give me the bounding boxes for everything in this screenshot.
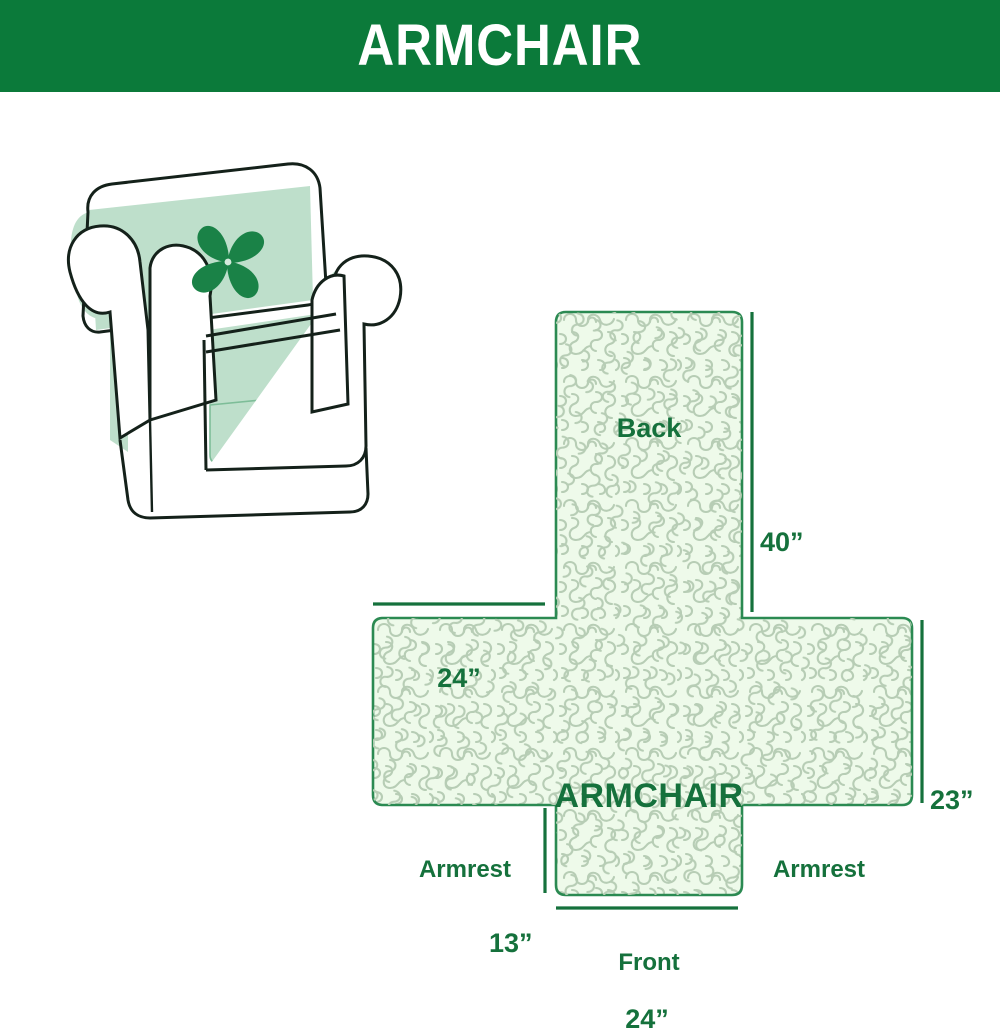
dimension-label-front-height: 13” — [489, 930, 533, 957]
armchair-illustration — [68, 164, 400, 518]
chair-base-left-fold — [150, 420, 152, 512]
panel-label-armrest-right: Armrest — [726, 858, 912, 882]
dimension-label-armrest-width: 24” — [373, 665, 545, 692]
dimension-label-center-height: 23” — [930, 787, 974, 814]
header-banner: ARMCHAIR — [0, 0, 1000, 92]
page-title: ARMCHAIR — [358, 17, 643, 75]
panel-label-armrest-left: Armrest — [372, 858, 558, 882]
dimension-label-back-height: 40” — [760, 529, 804, 556]
chair-right-arm-inner — [312, 275, 348, 412]
panel-label-center: ARMCHAIR — [449, 779, 849, 813]
product-dimension-diagram: ARMCHAIR — [0, 0, 1000, 1000]
chair-seat-front-edge — [204, 340, 206, 470]
diagram-canvas: Back ARMCHAIR Armrest Armrest Front 40” … — [0, 92, 1000, 1000]
panel-label-back: Back — [556, 415, 742, 442]
dimension-label-front-width: 24” — [556, 1006, 738, 1033]
panel-label-front: Front — [556, 951, 742, 975]
